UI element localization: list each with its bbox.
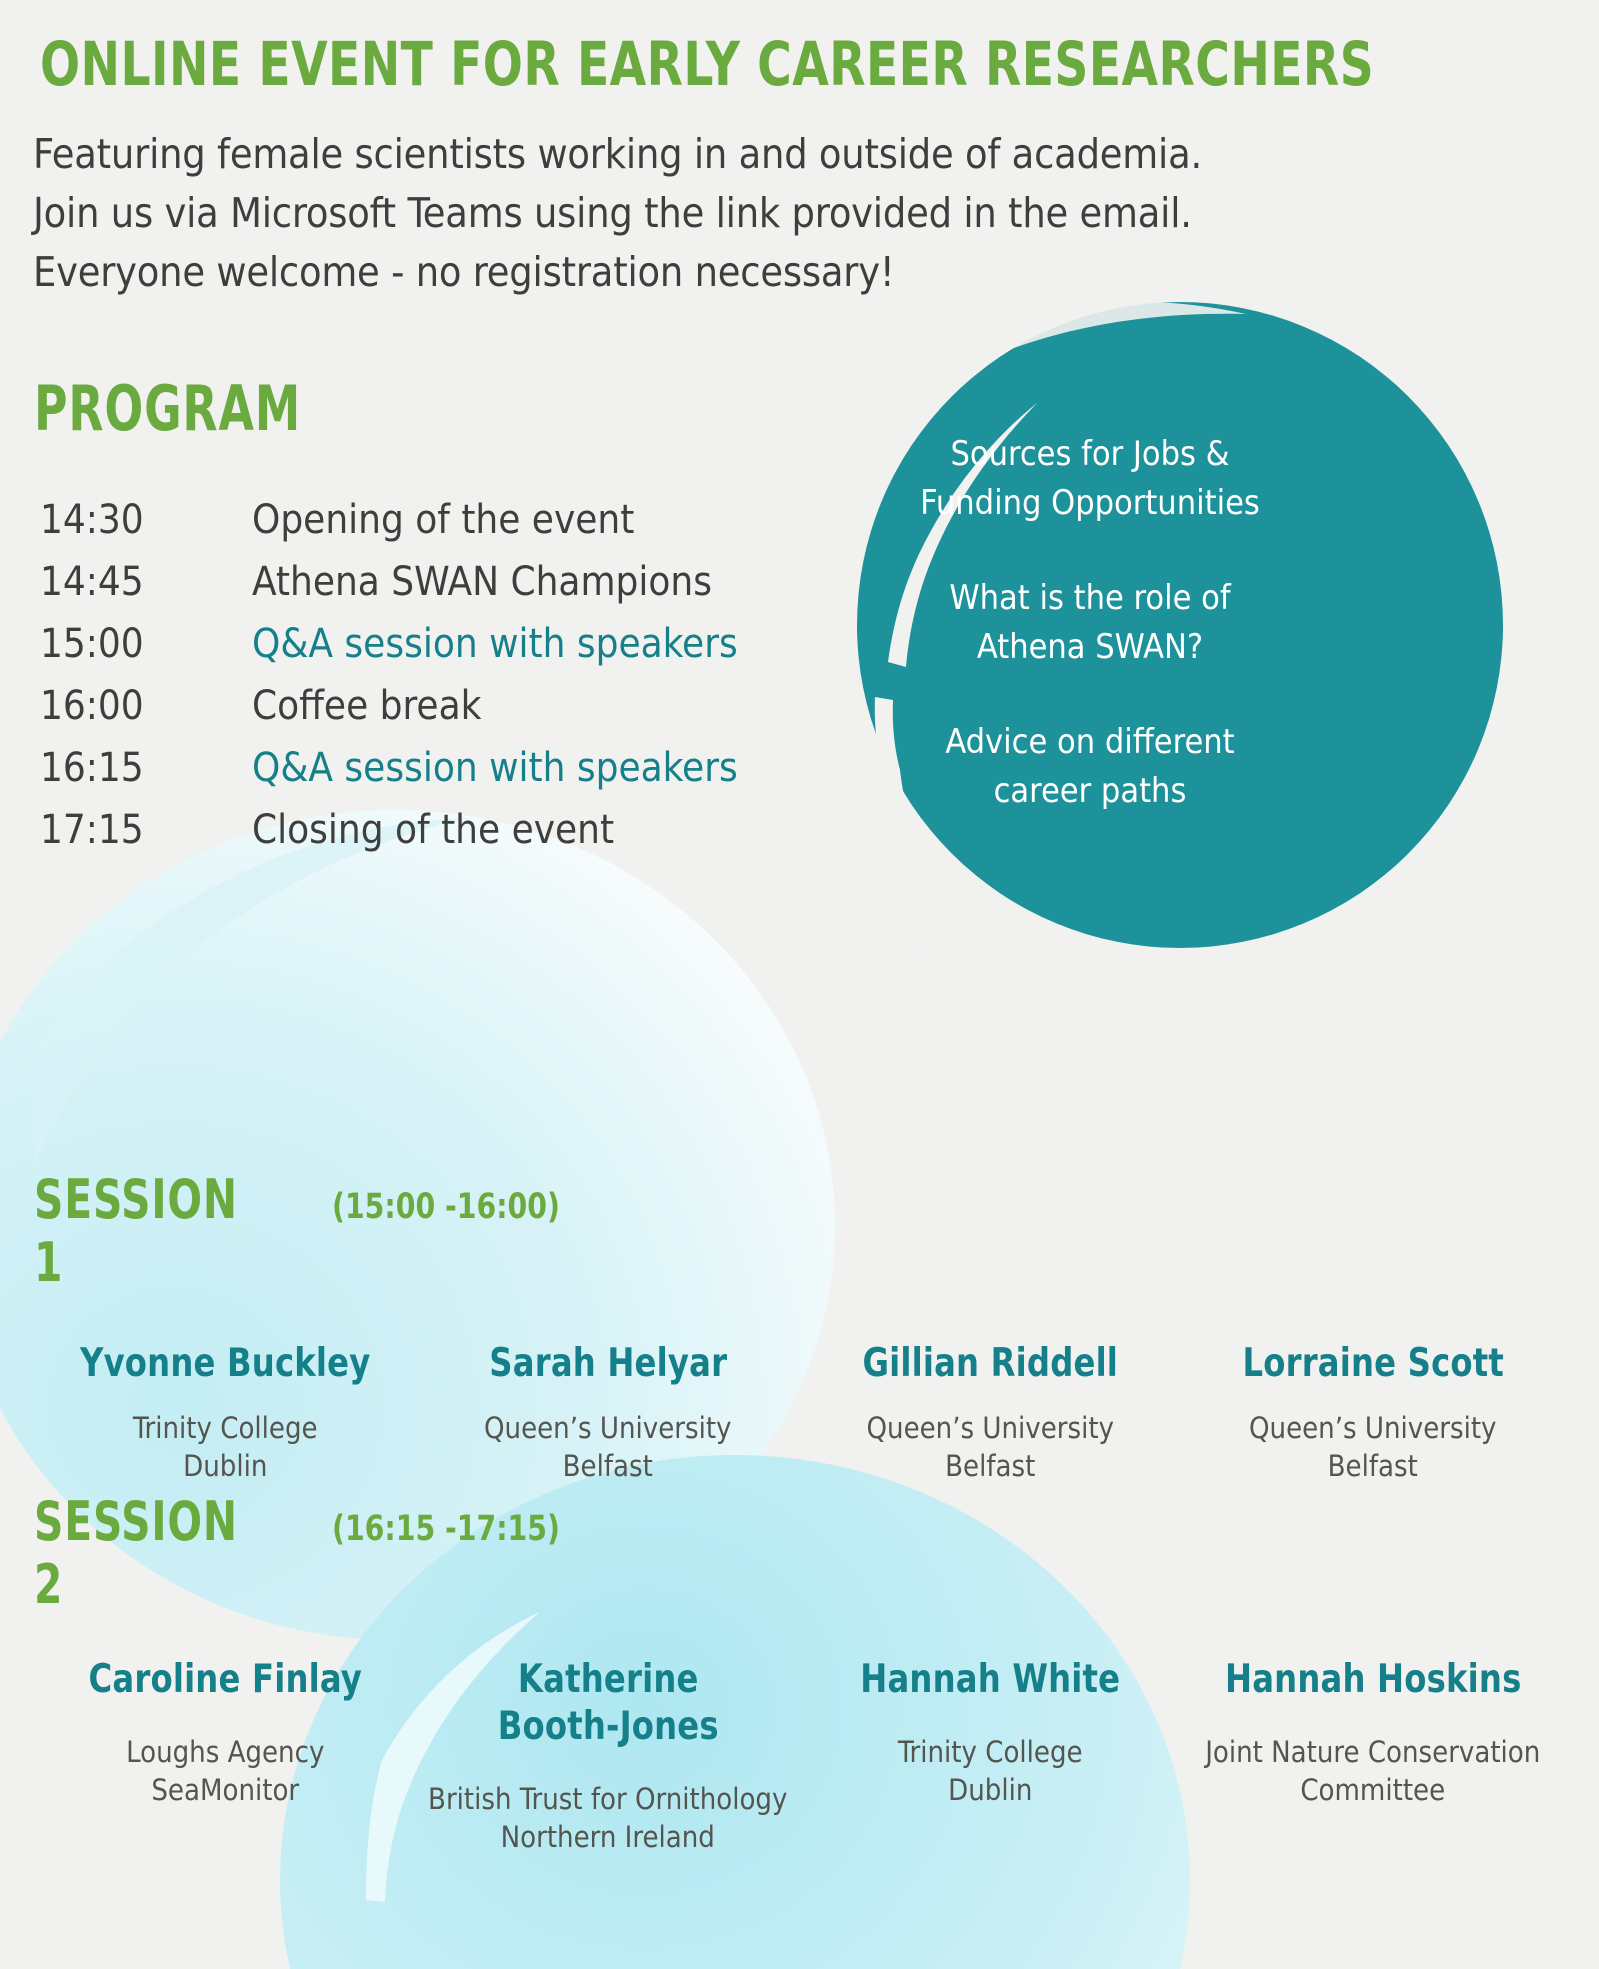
speaker-list: Yvonne Buckley Trinity College Dublin Sa…	[34, 1340, 1564, 1485]
topics-circle-text: Sources for Jobs & Funding Opportunities…	[890, 430, 1290, 816]
session-time: (16:15 -17:15)	[332, 1509, 560, 1549]
poster-content: ONLINE EVENT FOR EARLY CAREER RESEARCHER…	[0, 0, 1599, 1969]
topic-item: What is the role of Athena SWAN?	[890, 574, 1290, 672]
speaker-affiliation: Queen’s University Belfast	[805, 1409, 1176, 1485]
schedule-row: 16:15 Q&A session with speakers	[40, 745, 860, 807]
page-title: ONLINE EVENT FOR EARLY CAREER RESEARCHER…	[40, 34, 1244, 95]
session-time: (15:00 -16:00)	[332, 1187, 560, 1227]
schedule-item: Athena SWAN Champions	[252, 559, 712, 605]
program-schedule: 14:30 Opening of the event 14:45 Athena …	[40, 497, 860, 869]
schedule-item: Coffee break	[252, 683, 481, 729]
speaker-card: Katherine Booth-Jones British Trust for …	[417, 1656, 800, 1856]
speaker-name: Caroline Finlay	[55, 1656, 396, 1703]
schedule-row: 17:15 Closing of the event	[40, 807, 860, 869]
program-heading: PROGRAM	[34, 372, 301, 445]
intro-line-2: Join us via Microsoft Teams using the li…	[33, 184, 1483, 243]
speaker-name: Sarah Helyar	[437, 1340, 778, 1387]
schedule-item: Opening of the event	[252, 497, 634, 543]
speaker-affiliation: Trinity College Dublin	[805, 1733, 1176, 1809]
session-1: SESSION 1 (15:00 -16:00) Yvonne Buckley …	[34, 1168, 1564, 1485]
schedule-row: 16:00 Coffee break	[40, 683, 860, 745]
speaker-affiliation: Loughs Agency SeaMonitor	[40, 1733, 411, 1809]
schedule-row: 15:00 Q&A session with speakers	[40, 621, 860, 683]
speaker-card: Lorraine Scott Queen’s University Belfas…	[1182, 1340, 1565, 1485]
intro-line-3: Everyone welcome - no registration neces…	[33, 243, 1483, 302]
session-header: SESSION 2 (16:15 -17:15)	[34, 1490, 1564, 1616]
speaker-card: Caroline Finlay Loughs Agency SeaMonitor	[34, 1656, 417, 1856]
speaker-affiliation: British Trust for Ornithology Northern I…	[423, 1780, 794, 1856]
speaker-list: Caroline Finlay Loughs Agency SeaMonitor…	[34, 1656, 1564, 1856]
schedule-time: 15:00	[40, 621, 252, 667]
speaker-name: Katherine Booth-Jones	[437, 1656, 778, 1750]
schedule-time: 14:30	[40, 497, 252, 543]
speaker-card: Yvonne Buckley Trinity College Dublin	[34, 1340, 417, 1485]
schedule-item: Q&A session with speakers	[252, 621, 738, 667]
schedule-item: Q&A session with speakers	[252, 745, 738, 791]
schedule-row: 14:45 Athena SWAN Champions	[40, 559, 860, 621]
topic-item: Sources for Jobs & Funding Opportunities	[890, 430, 1290, 528]
session-title: SESSION 2	[34, 1490, 278, 1616]
speaker-card: Sarah Helyar Queen’s University Belfast	[417, 1340, 800, 1485]
speaker-affiliation: Queen’s University Belfast	[1188, 1409, 1559, 1485]
session-title: SESSION 1	[34, 1168, 278, 1294]
speaker-name: Hannah White	[820, 1656, 1161, 1703]
session-header: SESSION 1 (15:00 -16:00)	[34, 1168, 1564, 1294]
schedule-time: 17:15	[40, 807, 252, 853]
schedule-time: 16:00	[40, 683, 252, 729]
speaker-name: Gillian Riddell	[820, 1340, 1161, 1387]
speaker-affiliation: Joint Nature Conservation Committee	[1188, 1733, 1559, 1809]
speaker-card: Gillian Riddell Queen’s University Belfa…	[799, 1340, 1182, 1485]
intro-paragraph: Featuring female scientists working in a…	[33, 125, 1483, 302]
speaker-name: Lorraine Scott	[1202, 1340, 1543, 1387]
speaker-card: Hannah Hoskins Joint Nature Conservation…	[1182, 1656, 1565, 1856]
speaker-card: Hannah White Trinity College Dublin	[799, 1656, 1182, 1856]
speaker-name: Hannah Hoskins	[1202, 1656, 1543, 1703]
schedule-row: 14:30 Opening of the event	[40, 497, 860, 559]
schedule-time: 16:15	[40, 745, 252, 791]
session-2: SESSION 2 (16:15 -17:15) Caroline Finlay…	[34, 1490, 1564, 1856]
speaker-name: Yvonne Buckley	[55, 1340, 396, 1387]
speaker-affiliation: Queen’s University Belfast	[423, 1409, 794, 1485]
speaker-affiliation: Trinity College Dublin	[40, 1409, 411, 1485]
topic-item: Advice on different career paths	[890, 718, 1290, 816]
intro-line-1: Featuring female scientists working in a…	[33, 125, 1483, 184]
schedule-time: 14:45	[40, 559, 252, 605]
schedule-item: Closing of the event	[252, 807, 614, 853]
